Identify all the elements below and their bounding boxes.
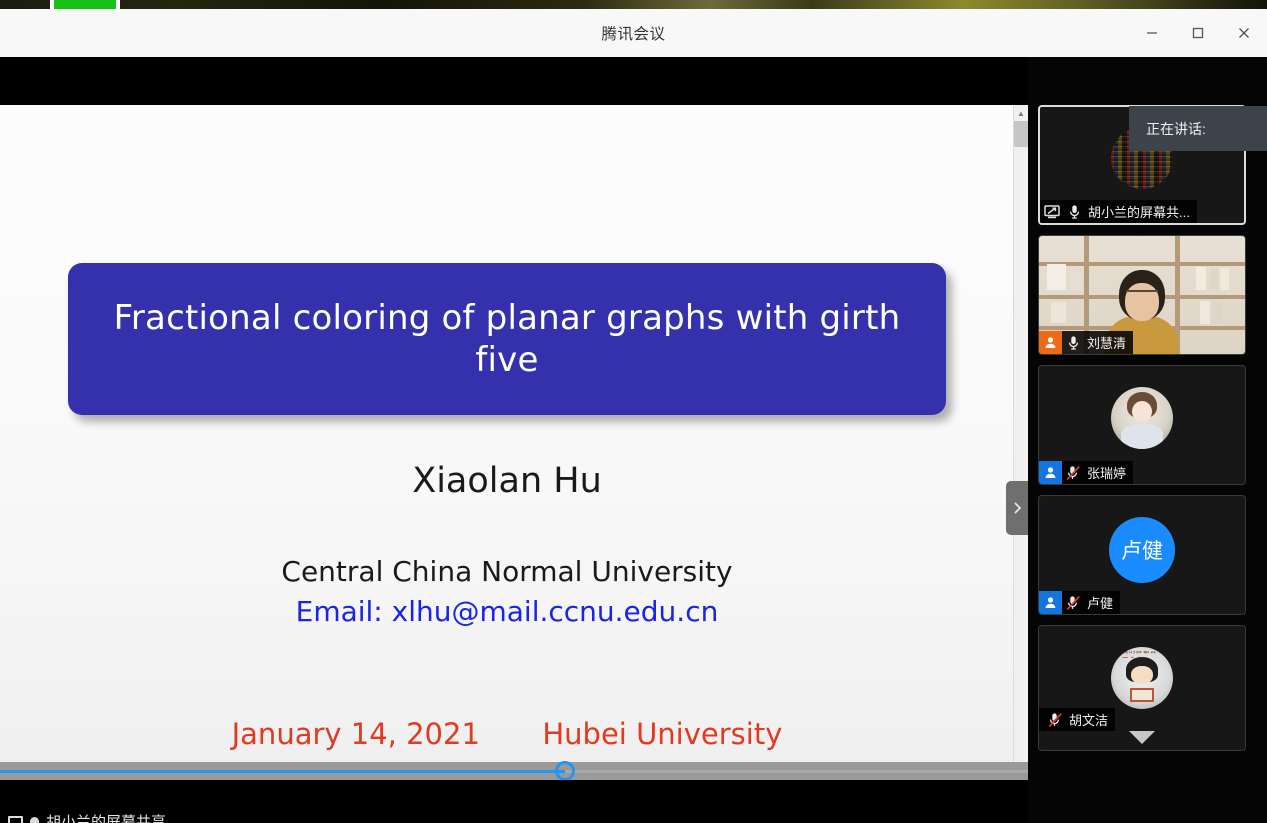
slide-email: Email: xlhu@mail.ccnu.edu.cn bbox=[0, 595, 1014, 628]
shared-screen-viewer: Fractional coloring of planar graphs wit… bbox=[0, 57, 1028, 823]
slide-author: Xiaolan Hu bbox=[0, 461, 1014, 501]
user-badge-icon bbox=[1039, 461, 1062, 484]
participant-namebar: 胡文洁 bbox=[1039, 708, 1115, 731]
desktop-green-marker bbox=[50, 0, 120, 9]
slide-footer: January 14, 2021 Hubei University bbox=[0, 717, 1014, 751]
slider-handle[interactable] bbox=[555, 761, 575, 781]
tencent-meeting-window: 腾讯会议 Fractional coloring of planar graph… bbox=[0, 0, 1267, 823]
slide-venue: Hubei University bbox=[542, 717, 782, 751]
slide-vertical-scrollbar[interactable]: ▲ ▼ bbox=[1013, 105, 1028, 823]
window-title: 腾讯会议 bbox=[0, 9, 1267, 57]
user-badge-icon bbox=[1039, 591, 1062, 614]
participants-sidebar: 胡小兰的屏幕共... bbox=[1028, 57, 1267, 823]
title-bar: 腾讯会议 bbox=[0, 9, 1267, 57]
close-button[interactable] bbox=[1221, 9, 1267, 57]
mic-dot-icon bbox=[30, 817, 39, 823]
meeting-content: Fractional coloring of planar graphs wit… bbox=[0, 57, 1267, 823]
bottom-toolbar-area: 胡小兰的屏幕共享 bbox=[0, 780, 1028, 823]
chevron-down-icon[interactable] bbox=[1129, 731, 1155, 744]
desktop-background-strip bbox=[0, 0, 1267, 9]
participant-tile[interactable]: 卢健 卢健 bbox=[1038, 495, 1246, 615]
participant-namebar: 张瑞婷 bbox=[1039, 461, 1133, 484]
participant-tile[interactable]: 我的脸都去哪余人 胡文洁 bbox=[1038, 625, 1246, 751]
participant-name: 刘慧清 bbox=[1084, 333, 1126, 352]
microphone-icon bbox=[1063, 200, 1085, 223]
maximize-button[interactable] bbox=[1175, 9, 1221, 57]
microphone-icon bbox=[1062, 331, 1084, 354]
share-top-letterbox bbox=[0, 57, 1028, 105]
participant-name: 张瑞婷 bbox=[1084, 463, 1126, 482]
presentation-slide: Fractional coloring of planar graphs wit… bbox=[0, 105, 1014, 823]
participant-tile[interactable]: 刘慧清 bbox=[1038, 235, 1246, 355]
scroll-up-icon[interactable]: ▲ bbox=[1014, 105, 1028, 121]
slide-title: Fractional coloring of planar graphs wit… bbox=[68, 297, 946, 381]
slide-date: January 14, 2021 bbox=[232, 717, 480, 751]
slider-fill bbox=[0, 770, 565, 773]
slide-title-box: Fractional coloring of planar graphs wit… bbox=[68, 263, 946, 415]
scrollbar-thumb[interactable] bbox=[1014, 121, 1028, 147]
window-controls bbox=[1129, 9, 1267, 57]
chevron-right-icon bbox=[1012, 500, 1023, 516]
share-zoom-slider[interactable] bbox=[0, 762, 1028, 780]
microphone-muted-icon bbox=[1062, 591, 1084, 614]
bottom-status-row: 胡小兰的屏幕共享 bbox=[8, 811, 166, 823]
minimize-button[interactable] bbox=[1129, 9, 1175, 57]
avatar: 卢健 bbox=[1109, 517, 1175, 583]
participant-namebar: 胡小兰的屏幕共... bbox=[1040, 200, 1197, 223]
participant-name: 胡小兰的屏幕共... bbox=[1085, 202, 1190, 221]
collapse-panel-toggle[interactable] bbox=[1006, 481, 1028, 535]
user-badge-icon bbox=[1039, 331, 1062, 354]
avatar bbox=[1111, 387, 1173, 449]
slide-affiliation: Central China Normal University bbox=[0, 555, 1014, 588]
bottom-status-text: 胡小兰的屏幕共享 bbox=[46, 811, 166, 823]
slide-area: Fractional coloring of planar graphs wit… bbox=[0, 105, 1028, 823]
speaking-tooltip: 正在讲话: bbox=[1129, 106, 1267, 151]
microphone-muted-icon bbox=[1044, 708, 1066, 731]
screen-share-icon bbox=[1040, 200, 1063, 223]
microphone-muted-icon bbox=[1062, 461, 1084, 484]
participant-name: 卢健 bbox=[1084, 593, 1113, 612]
avatar: 我的脸都去哪余人 bbox=[1111, 647, 1173, 709]
participant-name: 胡文洁 bbox=[1066, 710, 1108, 729]
participant-tile[interactable]: 张瑞婷 bbox=[1038, 365, 1246, 485]
participant-namebar: 卢健 bbox=[1039, 591, 1120, 614]
screen-share-icon bbox=[8, 816, 23, 823]
participant-namebar: 刘慧清 bbox=[1039, 331, 1133, 354]
